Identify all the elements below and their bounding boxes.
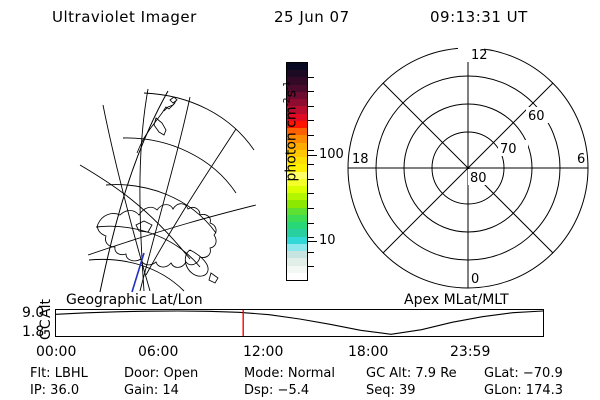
colorbar-minor-tick-6 [308,150,314,151]
altitude-ytick-high: 9.0 [22,305,44,321]
mlat-label-70: 70 [500,142,517,157]
mlt-label-0: 0 [471,272,479,287]
altitude-xtick-2: 12:00 [243,344,283,360]
status-seq: Seq: 39 [366,383,416,398]
colorbar-minor-tick-12 [308,237,314,238]
colorbar-minor-tick-3 [308,106,314,107]
colorbar-band-22 [287,222,307,229]
colorbar-unit-mid: s [283,90,299,97]
polar-plot-svg: 12 18 6 0 60 70 80 [340,45,600,295]
mlt-label-12: 12 [471,48,488,63]
colorbar-unit-main: photon cm [283,106,299,181]
mlat-label-60: 60 [528,109,545,124]
status-filter: Flt: LBHL [30,366,88,381]
colorbar-minor-tick-5 [308,135,314,136]
altitude-xtick-4: 23:59 [450,344,490,360]
mlt-label-6: 6 [577,152,585,167]
status-mode: Mode: Normal [244,366,335,381]
observation-date: 25 Jun 07 [274,8,350,26]
colorbar-band-24 [287,237,307,244]
colorbar-label-10: 10 [319,234,336,247]
mlt-label-18: 18 [352,152,369,167]
colorbar-major-tick-10 [308,241,317,242]
status-dsp: Dsp: −5.4 [244,383,309,398]
colorbar-minor-tick-11 [308,223,314,224]
colorbar-axis-label: photon cm-2s-1 [283,41,300,221]
status-bar: Flt: LBHL IP: 36.0 Door: Open Gain: 14 M… [0,366,600,400]
coastline-outlines [97,97,218,283]
instrument-title: Ultraviolet Imager [52,8,197,26]
colorbar-minor-tick-14 [308,266,314,267]
geographic-map-panel[interactable] [40,45,280,295]
colorbar-minor-tick-4 [308,120,314,121]
status-glat: GLat: −70.9 [484,366,563,381]
altitude-xtick-3: 18:00 [348,344,388,360]
altitude-trace-line [56,311,543,334]
header-bar: Ultraviolet Imager 25 Jun 07 09:13:31 UT [0,8,600,32]
observation-time: 09:13:31 UT [430,8,528,26]
auroral-track-marker [132,253,144,292]
colorbar-minor-tick-9 [308,193,314,194]
latitude-grid-lines [89,93,254,291]
apex-polar-plot-panel[interactable]: 12 18 6 0 60 70 80 [340,45,600,295]
status-door: Door: Open [124,366,198,381]
apex-panel-caption: Apex MLat/MLT [404,292,509,308]
colorbar-minor-tick-10 [308,208,314,209]
colorbar-band-29 [287,273,307,280]
geographic-panel-caption: Geographic Lat/Lon [66,292,203,308]
colorbar-minor-tick-1 [308,77,314,78]
colorbar-band-27 [287,258,307,265]
status-gain: Gain: 14 [124,383,179,398]
altitude-xtick-1: 06:00 [138,344,178,360]
colorbar-panel[interactable]: 100 10 photon cm-2s-1 [265,45,345,295]
colorbar-band-23 [287,229,307,236]
colorbar-unit-exp2: -1 [283,81,293,90]
status-glon: GLon: 174.3 [484,383,563,398]
colorbar-unit-exp1: -2 [283,97,293,106]
colorbar-band-26 [287,251,307,258]
colorbar-major-tick-100 [308,155,317,156]
colorbar-minor-tick-2 [308,91,314,92]
colorbar-band-28 [287,266,307,273]
status-ip: IP: 36.0 [30,383,79,398]
altitude-chart-svg [56,310,543,336]
colorbar-minor-tick-7 [308,164,314,165]
colorbar-minor-tick-8 [308,179,314,180]
geographic-map-svg [40,45,280,295]
altitude-strip-chart[interactable] [55,309,544,337]
colorbar-band-25 [287,244,307,251]
mlat-label-80: 80 [470,171,487,186]
colorbar-minor-tick-13 [308,252,314,253]
status-gc-alt: GC Alt: 7.9 Re [366,366,457,381]
altitude-xtick-0: 00:00 [36,344,76,360]
altitude-ytick-low: 1.8 [22,324,44,340]
